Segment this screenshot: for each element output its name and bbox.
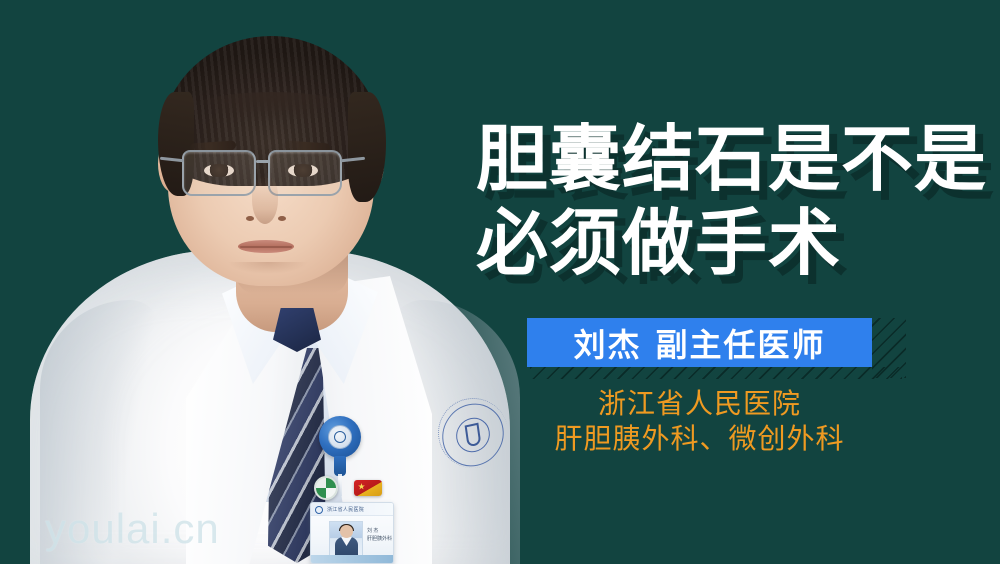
title-line-1: 胆囊结石是不是: [476, 118, 976, 202]
id-card-photo-head: [340, 525, 353, 538]
hair-side-right: [348, 92, 386, 202]
doctor-name-badge: 刘杰副主任医师: [527, 318, 872, 367]
lanyard-cord: [338, 474, 342, 496]
id-card-name-line1: 刘 杰: [367, 527, 392, 535]
id-card-header-title: 浙江省人民医院: [327, 506, 364, 513]
doctor-title: 副主任医师: [656, 327, 826, 363]
watermark: youlai.cn: [45, 505, 220, 553]
hair-fringe: [176, 92, 368, 144]
lanyard-reel-logo: [334, 431, 346, 443]
nose: [252, 176, 278, 224]
hatch-decoration-bottom: [530, 367, 902, 379]
eyeglass-bridge: [256, 160, 270, 163]
chin-shadow: [228, 262, 308, 282]
lip-line: [240, 246, 292, 248]
doctor-name: 刘杰: [573, 327, 641, 363]
eyeglass-lens-left: [182, 150, 256, 196]
nostril-right: [278, 216, 286, 221]
lanyard-reel-clip: [334, 456, 346, 476]
id-card-name-line2: 肝胆胰外科: [367, 535, 392, 543]
hospital-department: 肝胆胰外科、微创外科: [527, 421, 872, 456]
flag-pin-icon: [354, 480, 382, 496]
nostril-left: [246, 216, 254, 221]
id-card-footer-band: [311, 555, 394, 563]
doctor-name-badge-text: 刘杰副主任医师: [573, 320, 825, 366]
id-card-name: 刘 杰 肝胆胰外科: [367, 527, 392, 543]
hospital-name: 浙江省人民医院: [527, 386, 872, 421]
page-title: 胆囊结石是不是 必须做手术: [476, 118, 976, 286]
hospital-info: 浙江省人民医院 肝胆胰外科、微创外科: [527, 386, 872, 456]
id-card: 浙江省人民医院 刘 杰 肝胆胰外科: [310, 502, 394, 564]
id-card-logo-icon: [315, 506, 323, 514]
eyeglass-lens-right: [268, 150, 342, 196]
round-badge-pin-icon: [314, 476, 338, 500]
title-line-2: 必须做手术: [476, 202, 976, 286]
video-thumbnail-canvas: 浙江省人民医院 刘 杰 肝胆胰外科 youlai.cn 胆囊结石是不是 必须做手…: [0, 0, 1000, 564]
